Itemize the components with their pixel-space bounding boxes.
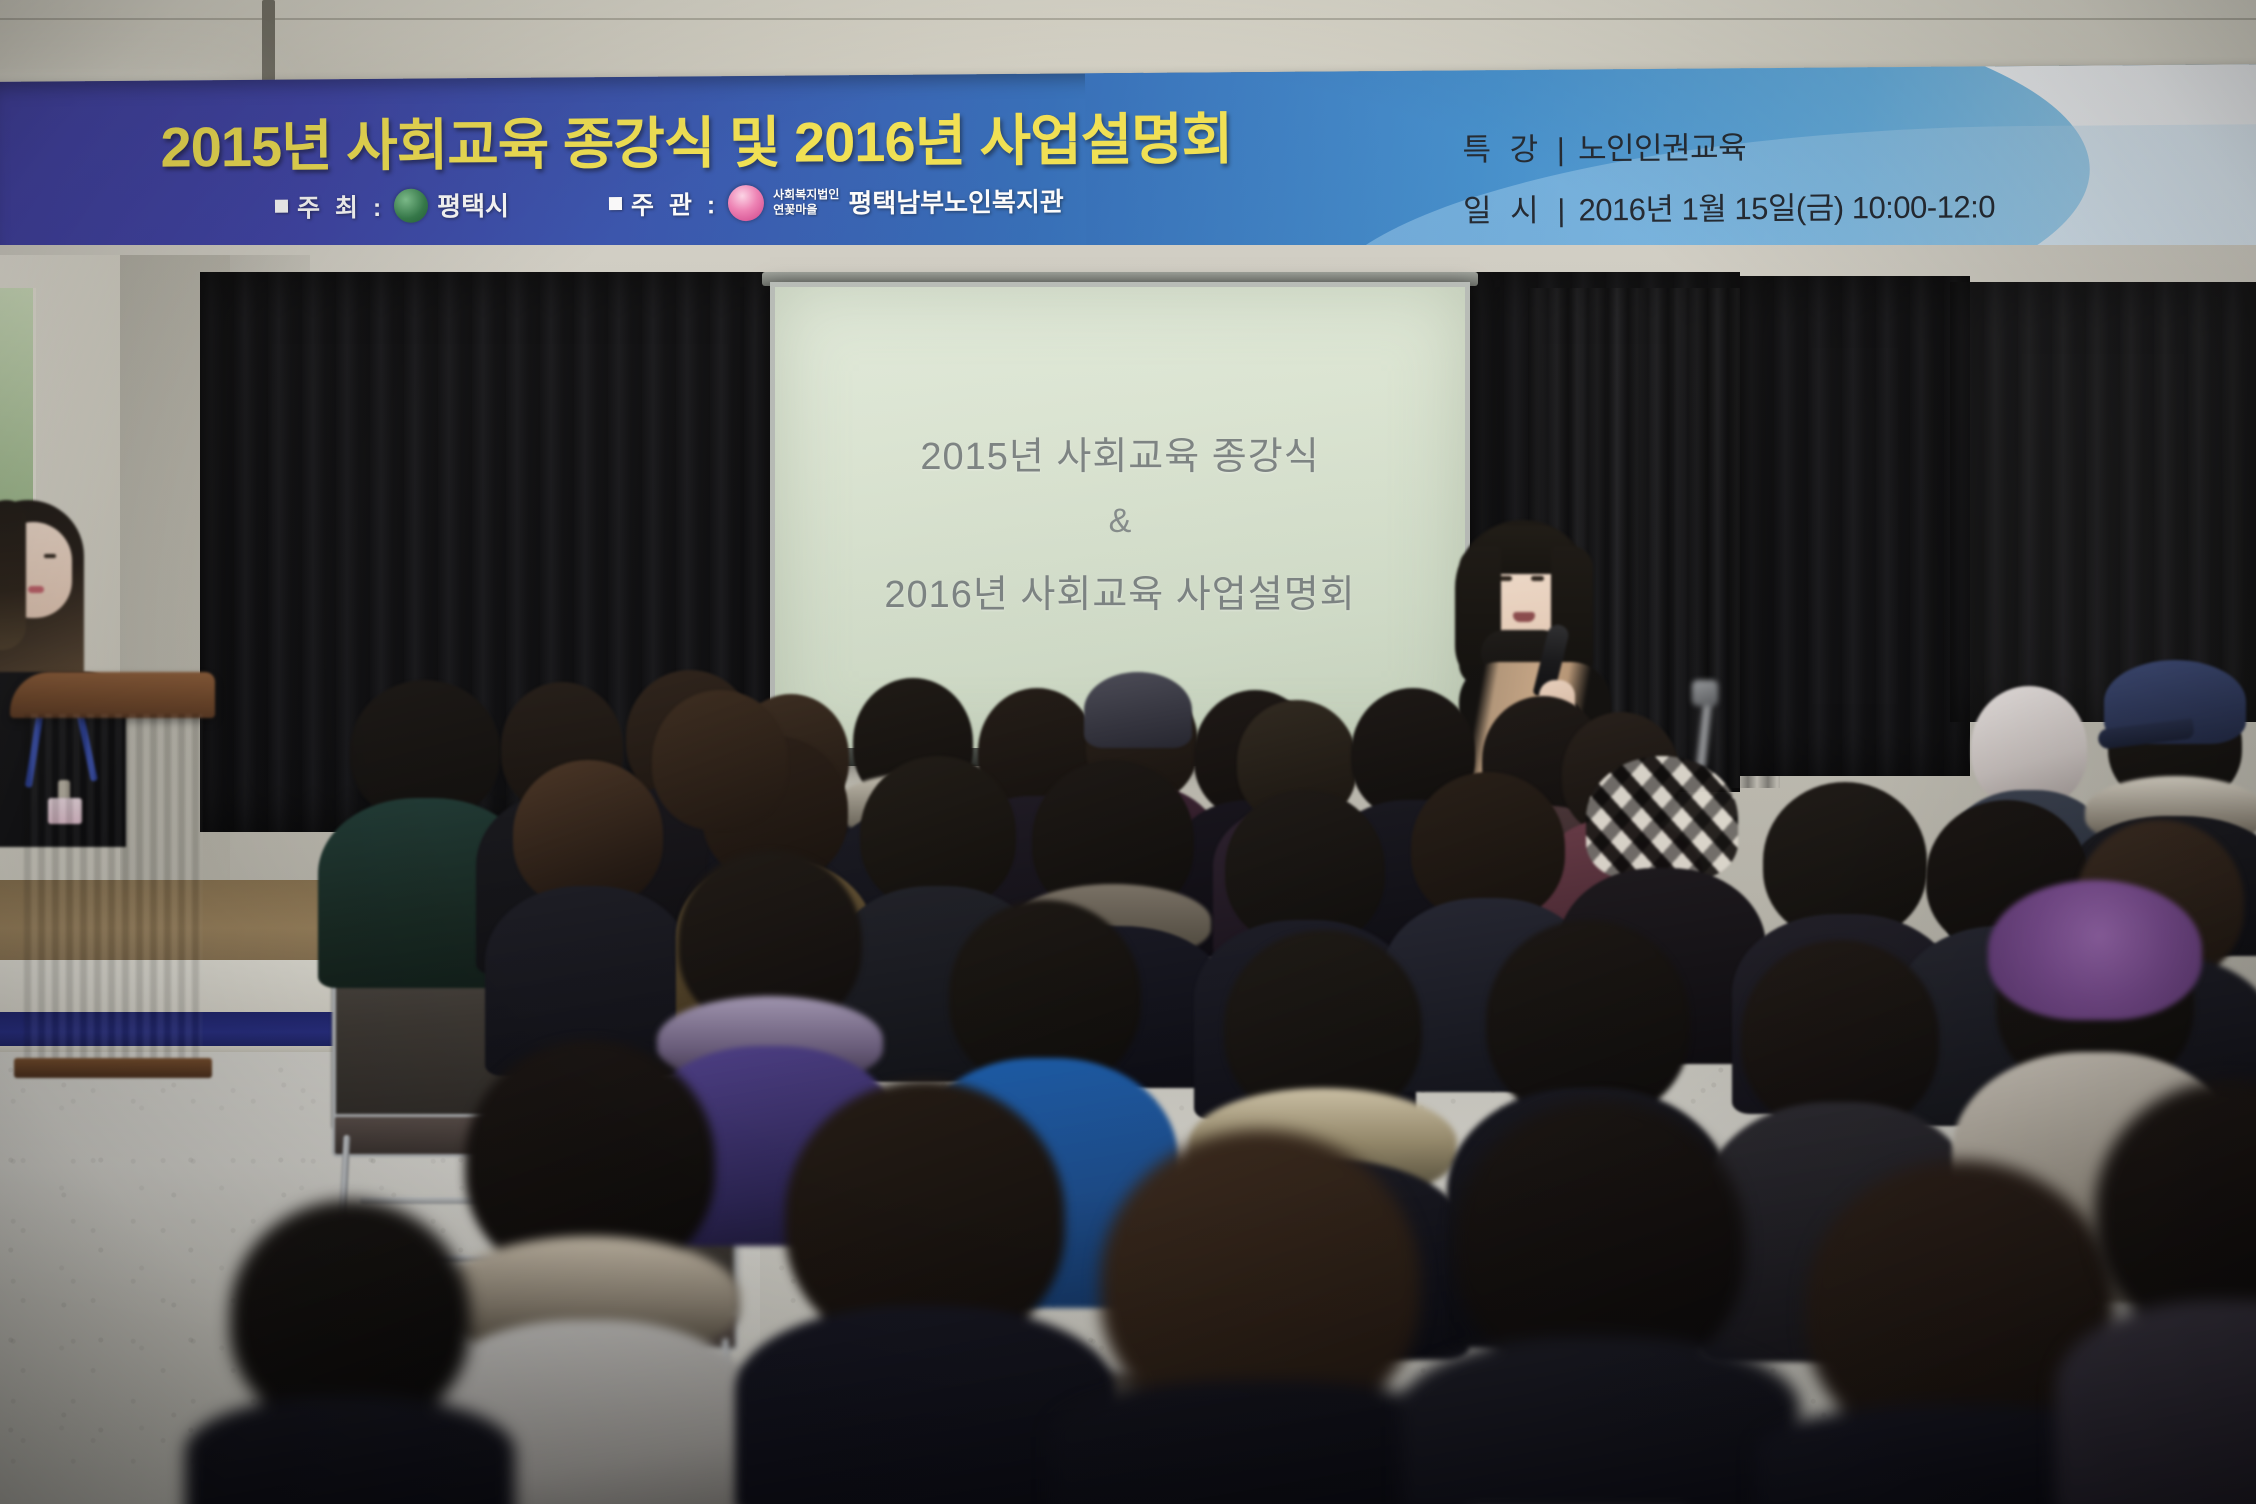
mic-stand-head (1692, 680, 1718, 706)
pyeongtaek-city-logo-icon (394, 188, 428, 222)
audience-cap-icon (1084, 672, 1192, 748)
bullet-square-icon (275, 200, 288, 213)
stage-curtain-far-right (1950, 282, 2256, 722)
podium-top-surface (10, 672, 215, 718)
corp-line-2: 연꽃마을 (773, 202, 839, 218)
audience-torso (2055, 1300, 2256, 1504)
audience-torso (1400, 1336, 1800, 1504)
conference-photo-scene: 2015년 사회교육 종강식 및 2016년 사업설명회 주 최 : 평택시 주… (0, 0, 2256, 1504)
banner-datetime-value: 2016년 1월 15일(금) 10:00-12:0 (1578, 189, 1995, 227)
staff-eye-right (44, 554, 56, 558)
banner-lecture-value: 노인인권교육 (1578, 130, 1746, 166)
audience-member-foreground (2080, 1080, 2256, 1504)
podium-base (14, 1058, 212, 1078)
event-banner: 2015년 사회교육 종강식 및 2016년 사업설명회 주 최 : 평택시 주… (0, 64, 2256, 270)
staff-lips (28, 586, 44, 593)
banner-host-org: 평택시 (437, 186, 509, 224)
checkered-hat-icon (1586, 756, 1738, 880)
banner-organizer-corp: 사회복지법인 연꽃마을 (773, 187, 839, 218)
banner-organizer-org: 평택남부노인복지관 (848, 182, 1064, 221)
banner-title: 2015년 사회교육 종강식 및 2016년 사업설명회 (160, 94, 1232, 183)
banner-datetime-key: 일 시 | (1463, 193, 1571, 229)
bullet-square-icon (609, 197, 622, 210)
podium-body (24, 714, 202, 1066)
audience-member-foreground (760, 1080, 1090, 1504)
wooden-podium (10, 672, 215, 1102)
speaker-mouth (1513, 612, 1535, 622)
banner-subline: 주 최 : 평택시 주 관 : 사회복지법인 연꽃마을 평택남부노인복지관 (275, 182, 1064, 225)
audience-member (640, 690, 800, 870)
audience-member-foreground (1080, 1130, 1440, 1504)
banner-right-info: 특 강 | 노인인권교육 일 시 | 2016년 1월 15일(금) 10:00… (1462, 118, 2256, 246)
banner-datetime-line: 일 시 | 2016년 1월 15일(금) 10:00-12:0 (1463, 179, 2256, 230)
screen-ampersand: & (1109, 502, 1132, 541)
audience-member-foreground (1430, 1100, 1770, 1504)
audience-member-foreground (200, 1200, 500, 1504)
banner-host-group: 주 최 : 평택시 (275, 186, 509, 225)
lotus-village-logo-icon (728, 184, 764, 220)
staff-hair-front (0, 500, 26, 650)
screen-line-1: 2015년 사회교육 종강식 (920, 425, 1319, 480)
banner-organizer-label: 주 관 : (631, 185, 719, 222)
speaker-eye-right (1531, 576, 1544, 581)
audience-head (652, 690, 788, 830)
corp-line-1: 사회복지법인 (773, 187, 839, 203)
stage-curtain-right (1740, 276, 1970, 776)
banner-host-label: 주 최 : (297, 187, 385, 224)
screen-line-2: 2016년 사회교육 사업설명회 (884, 563, 1355, 618)
banner-lecture-line: 특 강 | 노인인권교육 (1462, 118, 2256, 169)
purple-beret-icon (1988, 880, 2202, 1020)
banner-organizer-group: 주 관 : 사회복지법인 연꽃마을 평택남부노인복지관 (609, 182, 1064, 223)
banner-lecture-key: 특 강 | (1462, 132, 1570, 168)
audience-torso (185, 1396, 515, 1504)
ceiling-seam (0, 18, 2256, 20)
